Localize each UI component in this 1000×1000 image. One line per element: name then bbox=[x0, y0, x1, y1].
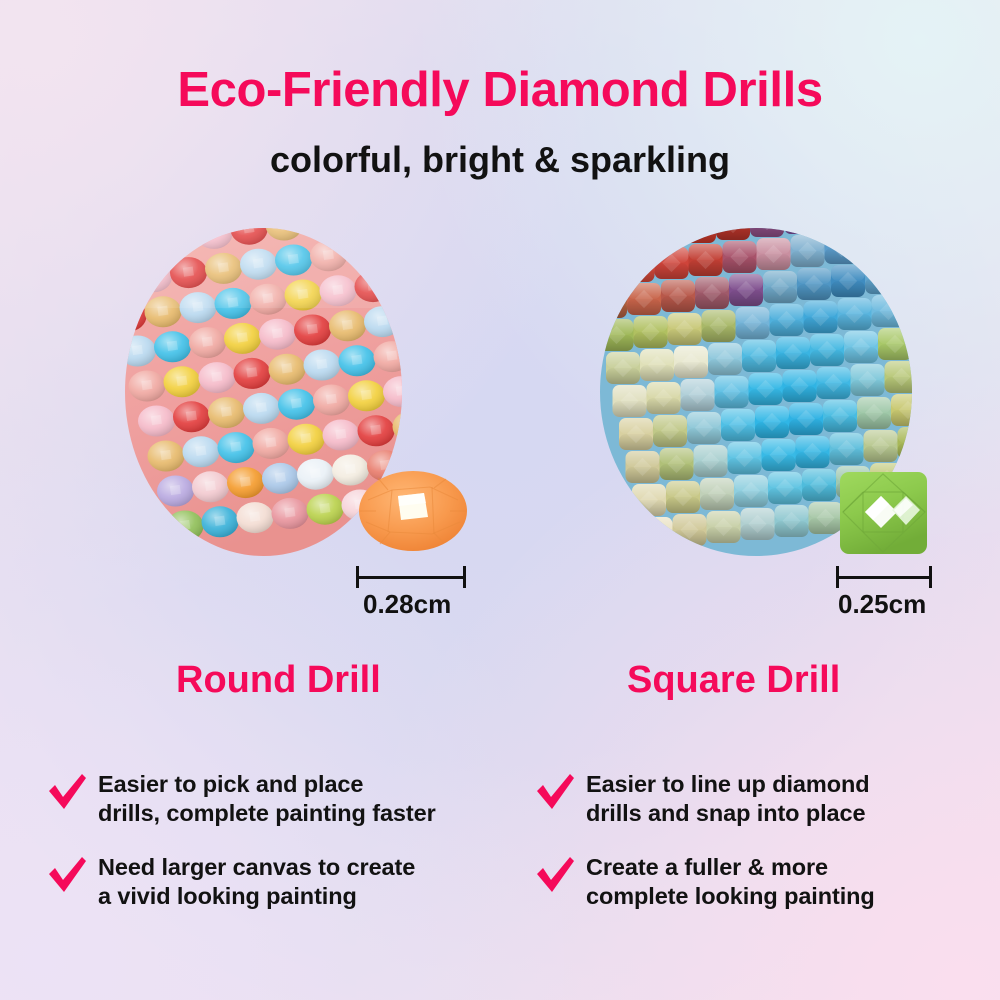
check-icon bbox=[46, 855, 88, 895]
square-drill-heading: Square Drill bbox=[627, 661, 840, 699]
dimension-line bbox=[356, 576, 466, 579]
square-drill-benefits: Easier to line up diamond drills and sna… bbox=[534, 770, 994, 937]
check-icon bbox=[534, 772, 576, 812]
square-drill-closeup bbox=[837, 470, 930, 556]
round-dimension-bar bbox=[356, 566, 466, 588]
list-item-label: Need larger canvas to create a vivid loo… bbox=[98, 853, 415, 910]
round-drill-closeup bbox=[358, 470, 468, 552]
square-dimension-label: 0.25cm bbox=[838, 589, 926, 620]
round-drill-heading: Round Drill bbox=[176, 661, 381, 699]
list-item: Easier to pick and place drills, complet… bbox=[46, 770, 506, 827]
page-title: Eco-Friendly Diamond Drills bbox=[0, 66, 1000, 115]
list-item-label: Easier to line up diamond drills and sna… bbox=[586, 770, 869, 827]
list-item-label: Create a fuller & more complete looking … bbox=[586, 853, 875, 910]
list-item: Easier to line up diamond drills and sna… bbox=[534, 770, 994, 827]
check-icon bbox=[534, 855, 576, 895]
list-item: Create a fuller & more complete looking … bbox=[534, 853, 994, 910]
list-item: Need larger canvas to create a vivid loo… bbox=[46, 853, 506, 910]
dimension-cap-right bbox=[929, 566, 932, 588]
round-dimension-label: 0.28cm bbox=[363, 589, 451, 620]
page-subtitle: colorful, bright & sparkling bbox=[0, 142, 1000, 178]
list-item-label: Easier to pick and place drills, complet… bbox=[98, 770, 436, 827]
infographic-page: Eco-Friendly Diamond Drills colorful, br… bbox=[0, 0, 1000, 1000]
dimension-cap-right bbox=[463, 566, 466, 588]
dimension-line bbox=[836, 576, 932, 579]
round-drill-benefits: Easier to pick and place drills, complet… bbox=[46, 770, 506, 937]
square-dimension-bar bbox=[836, 566, 932, 588]
check-icon bbox=[46, 772, 88, 812]
